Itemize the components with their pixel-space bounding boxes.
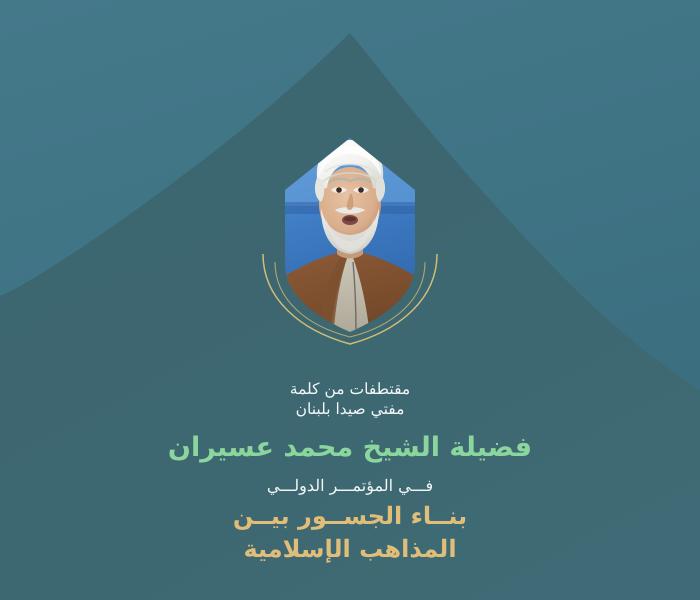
conference-title-line-2: المذاهب الإسلامية xyxy=(0,535,700,564)
conference-prefix: فـــي المؤتمـــر الدولـــي xyxy=(0,476,700,496)
conference-title-line-1: بنــاء الجســور بيــن xyxy=(0,502,700,531)
poster-canvas: مقتطفات من كلمة مفتي صيدا بلبنان فضيلة ا… xyxy=(0,0,700,600)
speaker-portrait xyxy=(245,132,455,347)
portrait-container xyxy=(0,132,700,347)
speaker-name: فضيلة الشيخ محمد عسيران xyxy=(0,432,700,465)
poster-text-block: مقتطفات من كلمة مفتي صيدا بلبنان فضيلة ا… xyxy=(0,380,700,564)
subtitle-line-2: مفتي صيدا بلبنان xyxy=(0,400,700,419)
portrait-photo xyxy=(275,132,425,347)
subtitle-line-1: مقتطفات من كلمة xyxy=(0,380,700,399)
